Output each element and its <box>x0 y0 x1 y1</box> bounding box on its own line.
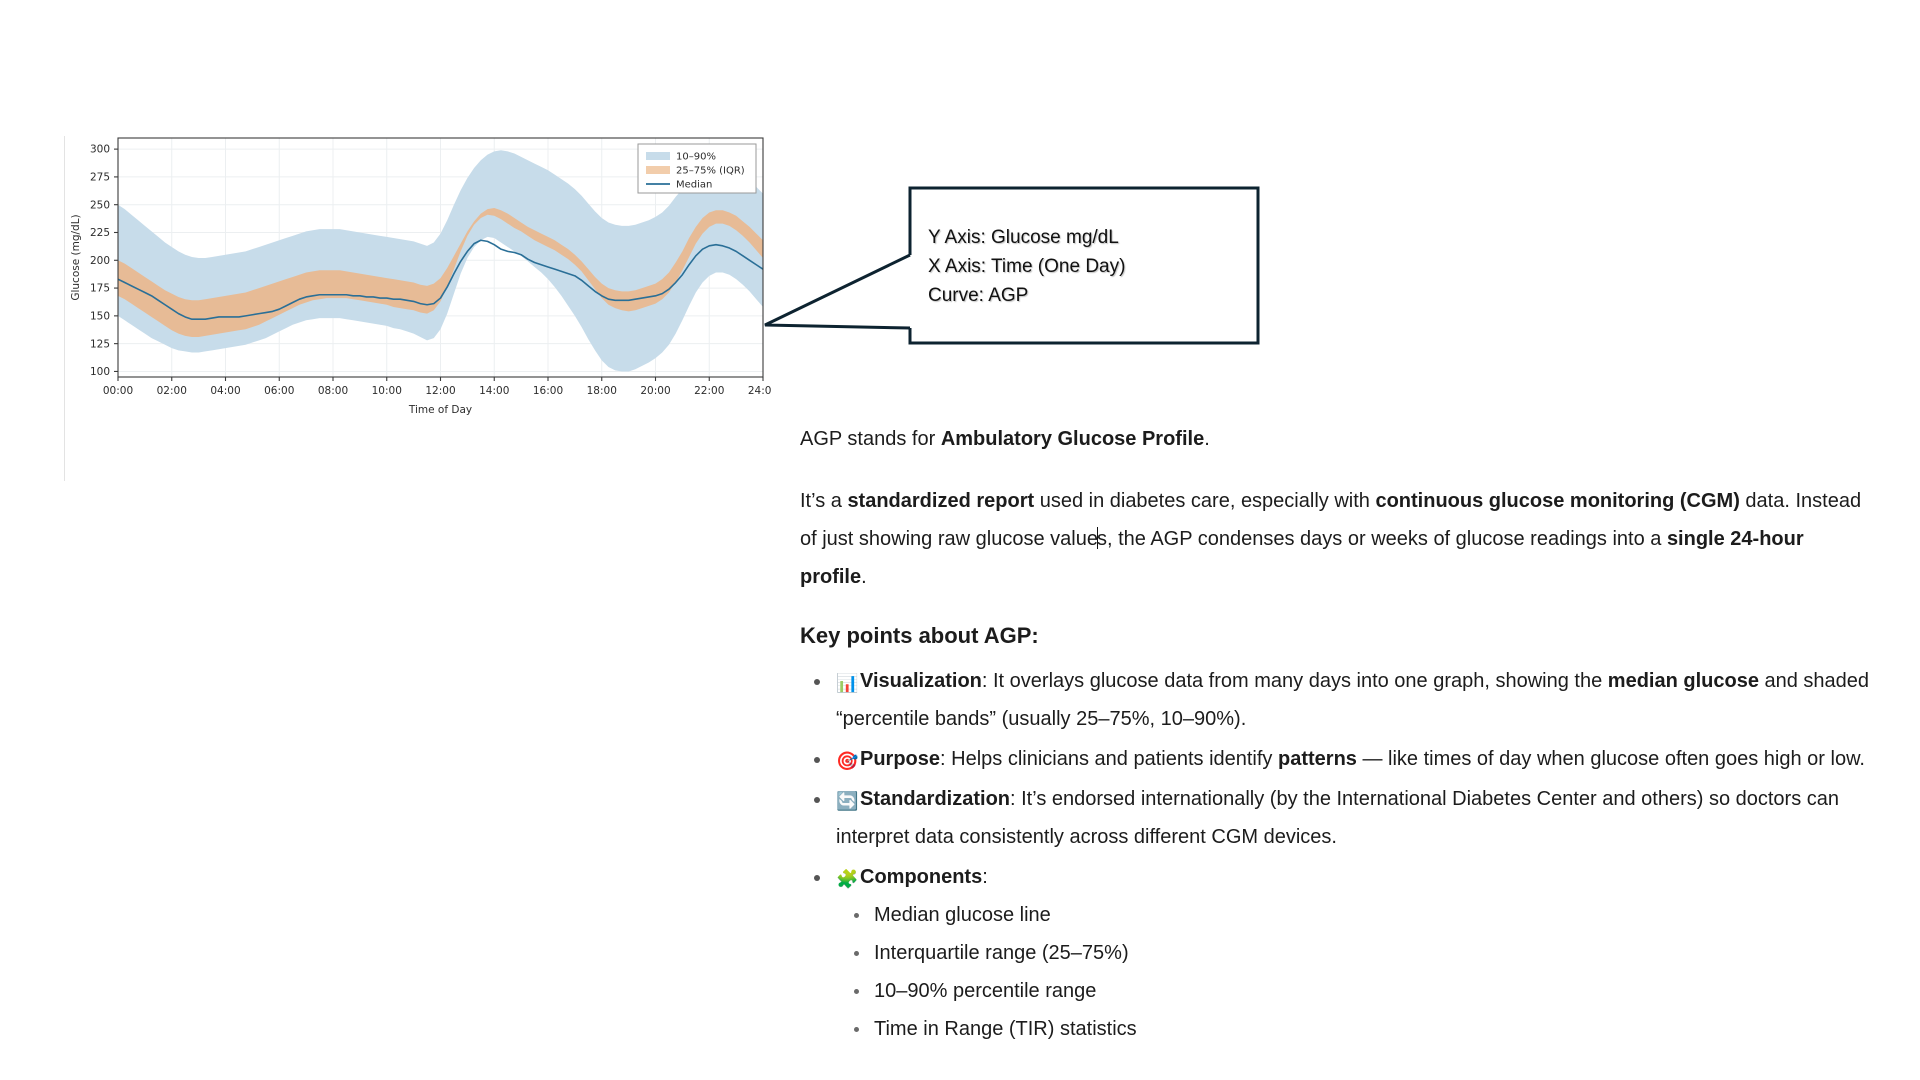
y-tick-label: 125 <box>90 338 110 350</box>
puzzle-piece-emoji: 🧩 <box>836 870 860 888</box>
legend-label-1: 25–75% (IQR) <box>676 166 745 177</box>
key-points-heading: Key points about AGP: <box>800 620 1870 652</box>
list-item: 10–90% percentile range <box>874 972 1870 1010</box>
y-tick-label: 300 <box>90 144 110 156</box>
list-item: Median glucose line <box>874 896 1870 934</box>
list-item: Interquartile range (25–75%) <box>874 934 1870 972</box>
body-bold-standardized-report: standardized report <box>847 490 1034 512</box>
bar-chart-emoji: 📊 <box>836 674 860 692</box>
x-tick-label: 00:00 <box>103 385 133 397</box>
legend-swatch-0 <box>646 152 670 160</box>
y-tick-label: 250 <box>90 199 110 211</box>
x-tick-label: 12:00 <box>425 385 455 397</box>
x-tick-label: 18:00 <box>587 385 617 397</box>
components-sublist: Median glucose line Interquartile range … <box>836 896 1870 1048</box>
bullet-1-text-c: — like times of day when glucose often g… <box>1357 748 1865 770</box>
bullet-label-components: Components <box>860 866 982 888</box>
callout-tail-fill <box>765 255 910 328</box>
x-tick-label: 08:00 <box>318 385 348 397</box>
intro-bold-term: Ambulatory Glucose Profile <box>941 428 1204 450</box>
bullet-3-text-a: : <box>982 866 988 888</box>
bullet-1-text-a: : Helps clinicians and patients identify <box>940 748 1278 770</box>
body-text-c: used in diabetes care, especially with <box>1034 490 1375 512</box>
bullet-0-bold: median glucose <box>1608 670 1759 692</box>
intro-paragraph: AGP stands for Ambulatory Glucose Profil… <box>800 420 1870 458</box>
callout-box[interactable]: Y Axis: Glucose mg/dL X Axis: Time (One … <box>910 188 1258 344</box>
bullet-label-visualization: Visualization <box>860 670 982 692</box>
x-tick-label: 06:00 <box>264 385 294 397</box>
x-axis-title: Time of Day <box>408 404 472 416</box>
x-tick-label: 14:00 <box>479 385 509 397</box>
refresh-emoji: 🔄 <box>836 792 860 810</box>
x-tick-label: 24:00 <box>748 385 771 397</box>
callout-tail-stroke <box>765 255 910 328</box>
list-item: 🧩Components: Median glucose line Interqu… <box>836 858 1870 1048</box>
body-text-f: . <box>861 566 867 588</box>
list-item: 📊Visualization: It overlays glucose data… <box>836 662 1870 738</box>
key-points-list: 📊Visualization: It overlays glucose data… <box>800 662 1870 1048</box>
y-tick-label: 150 <box>90 310 110 322</box>
list-item: 🔄Standardization: It’s endorsed internat… <box>836 780 1870 856</box>
legend-label-2: Median <box>676 180 712 191</box>
callout-line-curve: Curve: AGP <box>928 281 1258 310</box>
agp-chart-svg: AGP (Median + IQR + 10–90%)1001251501752… <box>65 136 771 481</box>
x-tick-label: 20:00 <box>640 385 670 397</box>
bullet-label-standardization: Standardization <box>860 788 1010 810</box>
x-tick-label: 10:00 <box>372 385 402 397</box>
target-emoji: 🎯 <box>836 752 860 770</box>
callout-line-y-axis: Y Axis: Glucose mg/dL <box>928 223 1258 252</box>
legend-label-0: 10–90% <box>676 152 716 163</box>
y-tick-label: 200 <box>90 255 110 267</box>
y-axis-title: Glucose (mg/dL) <box>70 214 82 300</box>
x-tick-label: 04:00 <box>210 385 240 397</box>
agp-chart-figure[interactable]: AGP (Median + IQR + 10–90%)1001251501752… <box>64 136 770 481</box>
x-tick-label: 22:00 <box>694 385 724 397</box>
callout-line-x-axis: X Axis: Time (One Day) <box>928 252 1258 281</box>
y-tick-label: 175 <box>90 283 110 295</box>
list-item: 🎯Purpose: Helps clinicians and patients … <box>836 740 1870 778</box>
body-bold-cgm: continuous glucose monitoring (CGM) <box>1375 490 1739 512</box>
list-item: Time in Range (TIR) statistics <box>874 1010 1870 1048</box>
x-tick-label: 16:00 <box>533 385 563 397</box>
body-paragraph: It’s a standardized report used in diabe… <box>800 482 1870 596</box>
y-tick-label: 225 <box>90 227 110 239</box>
bullet-1-bold: patterns <box>1278 748 1357 770</box>
intro-prefix: AGP stands for <box>800 428 941 450</box>
intro-suffix: . <box>1204 428 1210 450</box>
y-tick-label: 100 <box>90 366 110 378</box>
x-tick-label: 02:00 <box>157 385 187 397</box>
document-body: AGP stands for Ambulatory Glucose Profil… <box>800 420 1870 1050</box>
bullet-0-text-a: : It overlays glucose data from many day… <box>982 670 1608 692</box>
body-text-e: s, the AGP condenses days or weeks of gl… <box>1097 528 1667 550</box>
legend-swatch-1 <box>646 166 670 174</box>
bullet-label-purpose: Purpose <box>860 748 940 770</box>
body-text-a: It’s a <box>800 490 847 512</box>
y-tick-label: 275 <box>90 172 110 184</box>
